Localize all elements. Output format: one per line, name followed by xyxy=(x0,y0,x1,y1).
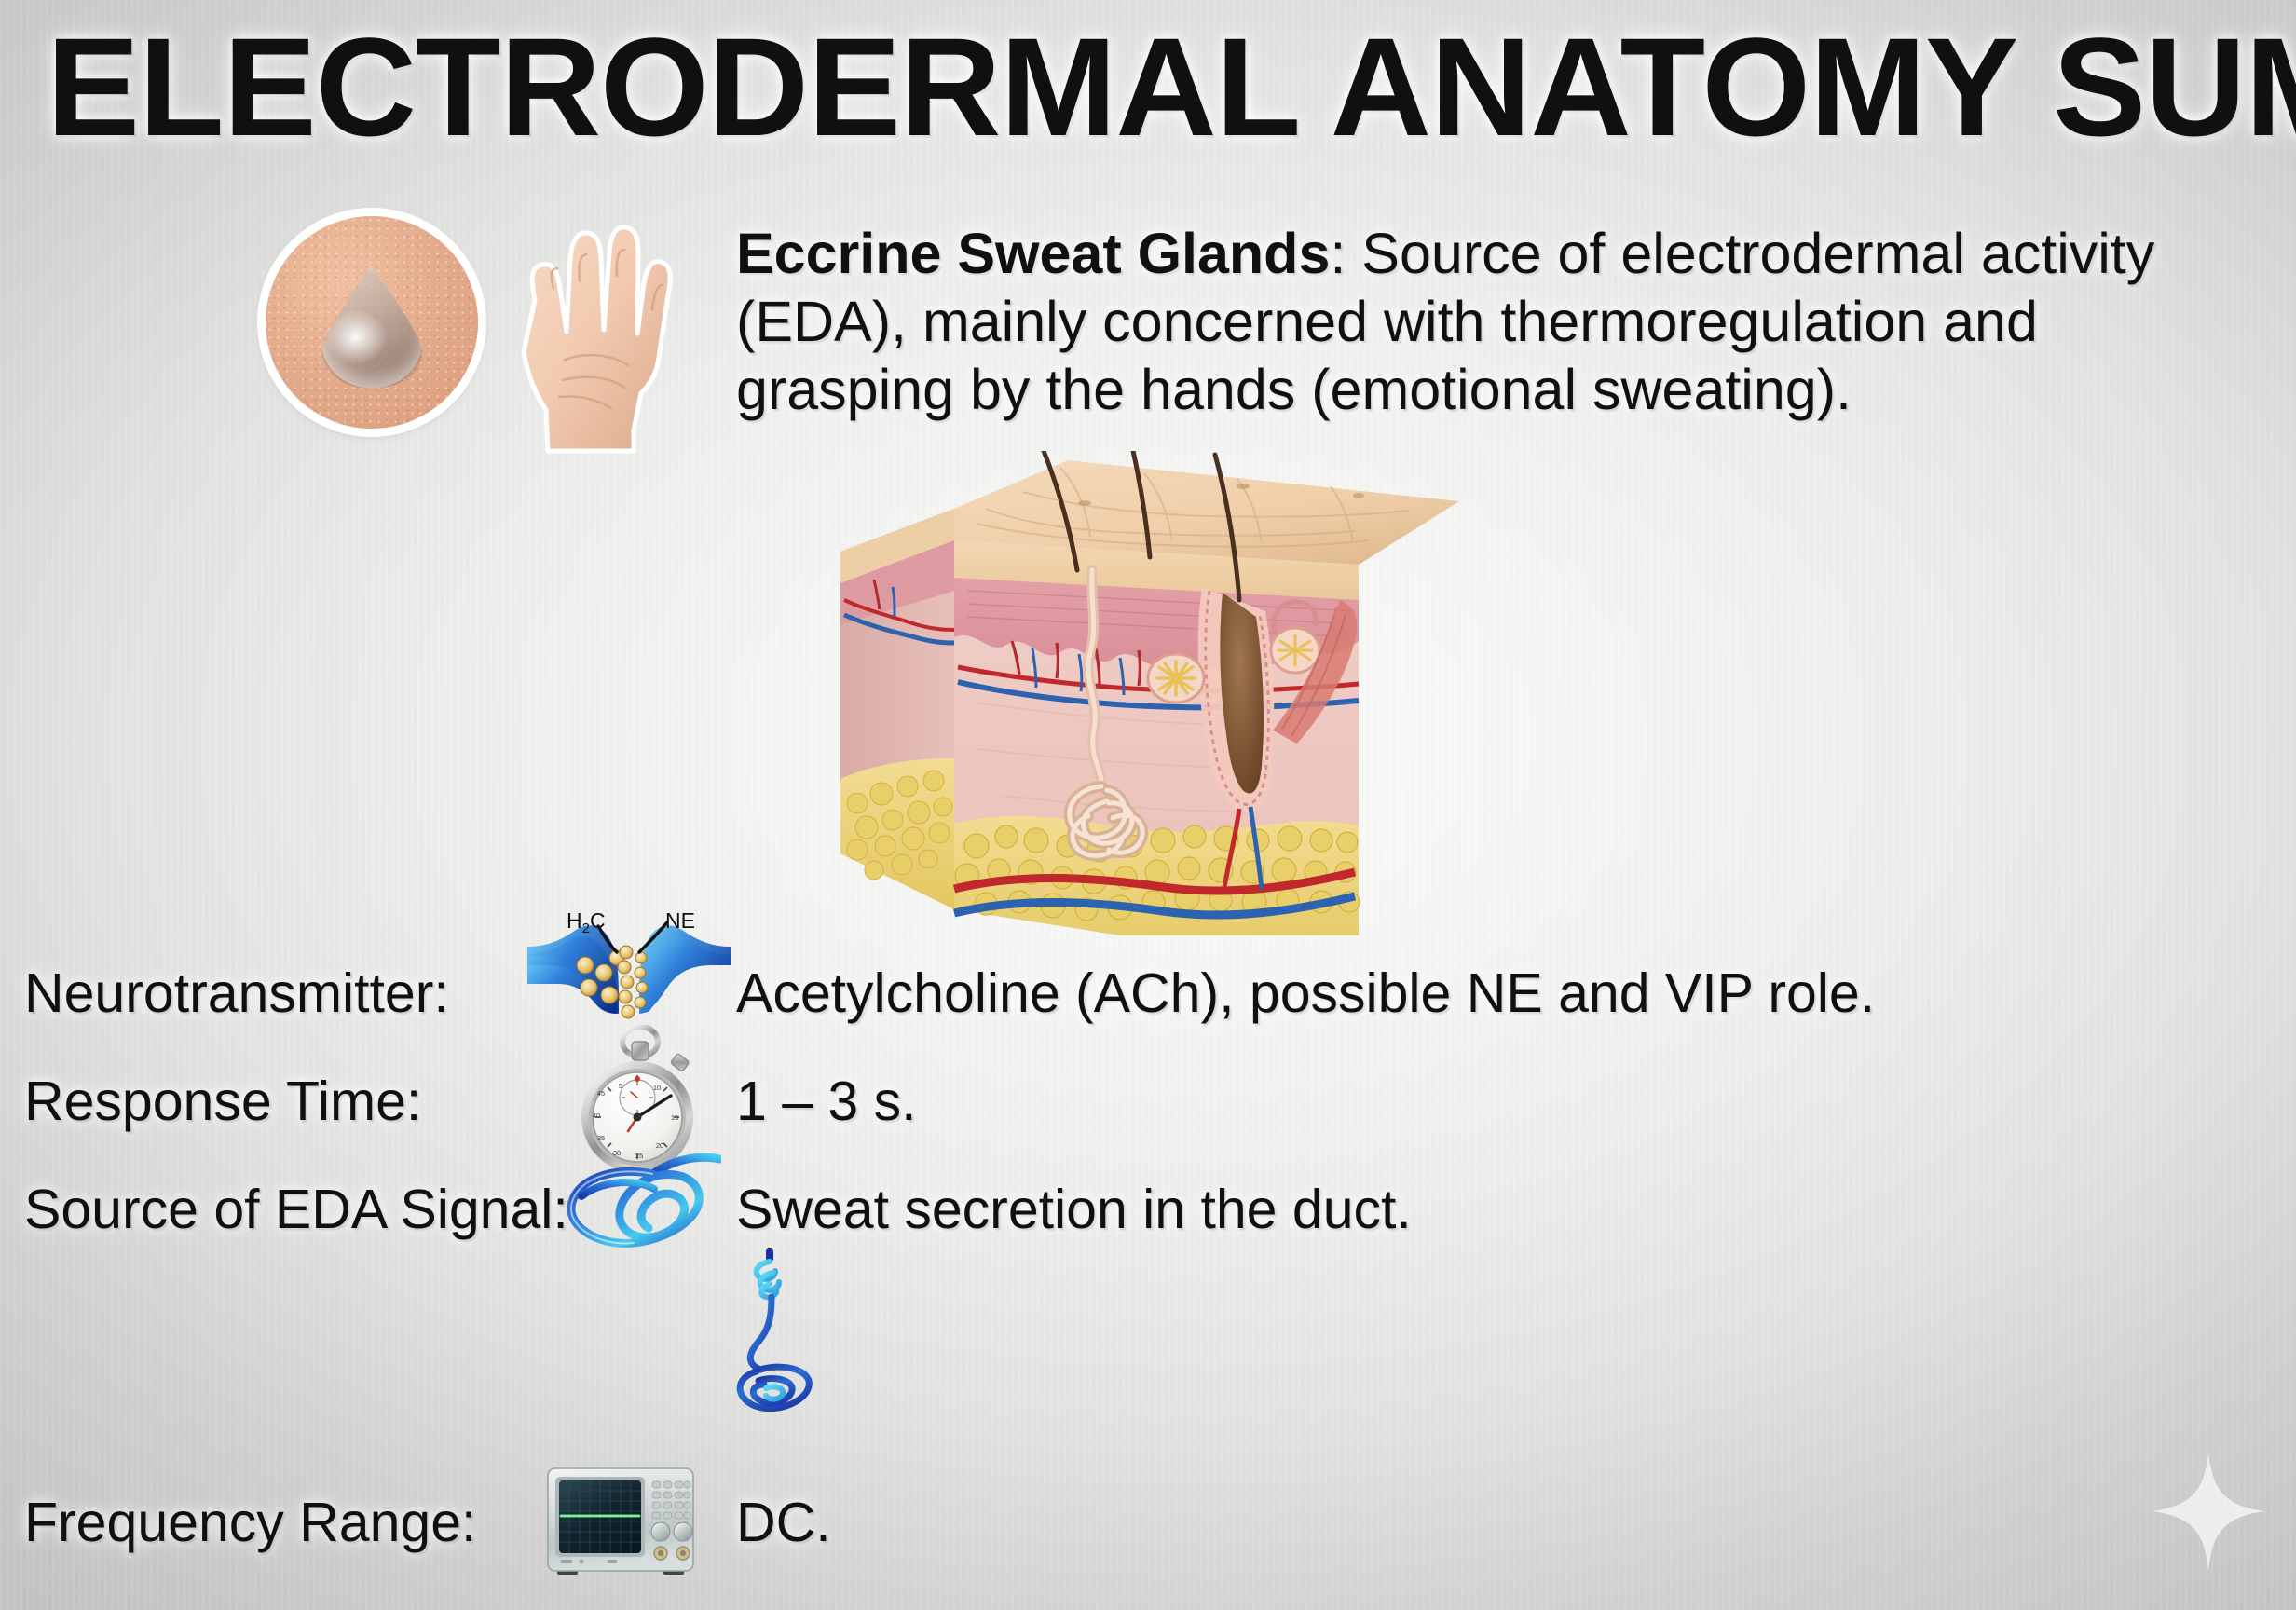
skin-cross-section-diagram xyxy=(837,451,1463,935)
svg-text:20: 20 xyxy=(656,1141,663,1150)
label-source-of-eda-signal: Source of EDA Signal: xyxy=(24,1178,568,1241)
label-neurotransmitter: Neurotransmitter: xyxy=(24,962,449,1025)
value-source-of-eda-signal: Sweat secretion in the duct. xyxy=(736,1178,1412,1241)
intro-term: Eccrine Sweat Glands xyxy=(736,222,1330,285)
slide-canvas: ELECTRODERMAL ANATOMY SUMMARY xyxy=(0,0,2296,1610)
oscilloscope-icon xyxy=(542,1465,699,1578)
sweat-drop-on-skin-icon xyxy=(266,216,478,429)
label-frequency-range: Frequency Range: xyxy=(24,1491,476,1554)
value-response-time: 1 – 3 s. xyxy=(736,1070,917,1133)
intro-paragraph: Eccrine Sweat Glands: Source of electrod… xyxy=(736,220,2227,424)
svg-text:35: 35 xyxy=(597,1134,605,1142)
sweat-duct-icon xyxy=(727,1245,829,1431)
value-neurotransmitter: Acetylcholine (ACh), possible NE and VIP… xyxy=(736,962,1875,1025)
intro-separator: : xyxy=(1330,222,1361,285)
label-response-time: Response Time: xyxy=(24,1070,421,1133)
page-title: ELECTRODERMAL ANATOMY SUMMARY xyxy=(47,17,2264,157)
value-frequency-range: DC. xyxy=(736,1491,831,1554)
svg-text:45: 45 xyxy=(597,1089,605,1098)
synapse-label-left: H2C xyxy=(567,909,606,936)
svg-text:40: 40 xyxy=(593,1112,600,1120)
sweat-gland-coil-icon xyxy=(563,1153,721,1263)
svg-text:15: 15 xyxy=(671,1113,678,1122)
synapse-icon: H2C NE xyxy=(527,909,731,1029)
sparkle-icon xyxy=(2151,1450,2266,1573)
synapse-label-right: NE xyxy=(665,909,695,933)
open-hand-icon xyxy=(492,211,682,455)
